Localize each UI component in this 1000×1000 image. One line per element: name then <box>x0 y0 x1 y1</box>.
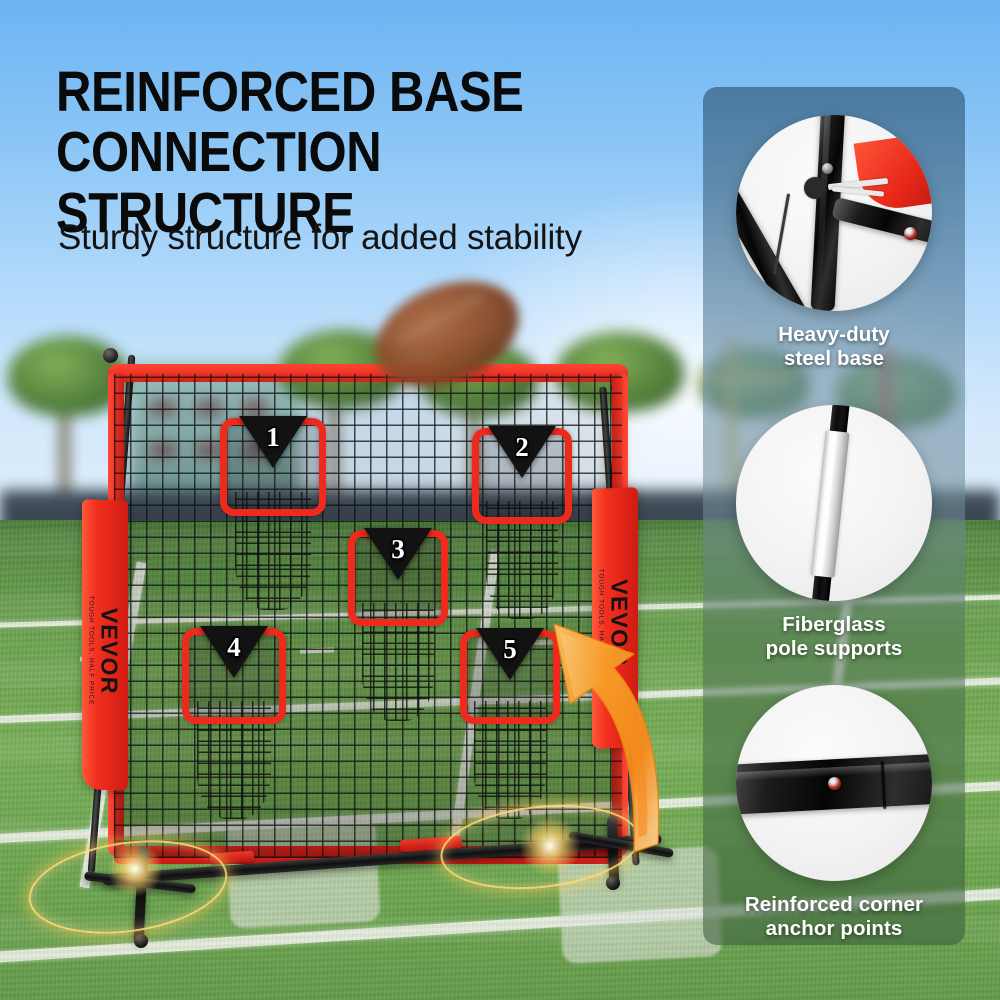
target-number: 2 <box>515 432 529 463</box>
feature-item-steel-base: Heavy-duty steel base <box>703 115 965 371</box>
football-seam <box>397 294 484 343</box>
feature-label-steel-base: Heavy-duty steel base <box>703 323 965 371</box>
base-foot-right <box>606 876 620 890</box>
vevor-sleeve-left: VEVOR TOUGH TOOLS, HALF PRICE <box>82 499 128 791</box>
target-number: 4 <box>227 632 241 663</box>
feature-label-anchor: Reinforced corner anchor points <box>703 893 965 941</box>
pole-tip-left <box>103 348 118 363</box>
subtitle: Sturdy structure for added stability <box>58 218 582 258</box>
fiberglass-pole-photo <box>736 405 932 601</box>
feature-item-fiberglass-pole: Fiberglass pole supports <box>703 405 965 661</box>
highlight-arrow <box>530 612 690 862</box>
arrow-icon <box>530 612 690 862</box>
tension-wire <box>773 193 790 274</box>
red-net-fabric <box>854 131 932 213</box>
feature-label-line2: pole supports <box>703 637 965 661</box>
base-sparkle <box>108 842 162 896</box>
target-number: 5 <box>503 634 517 665</box>
target-number: 3 <box>391 534 405 565</box>
headline-block: REINFORCED BASE CONNECTION STRUCTURE <box>56 62 696 243</box>
target-pocket-2[interactable]: 2 <box>472 428 572 524</box>
steel-base-photo <box>736 115 932 311</box>
corner-anchor-photo <box>736 685 932 881</box>
product-infographic: 1 2 3 4 5 VEVOR <box>0 0 1000 1000</box>
target-pocket-3[interactable]: 3 <box>348 530 448 626</box>
tube-rivet <box>822 163 833 174</box>
vevor-logo-left: VEVOR TOUGH TOOLS, HALF PRICE <box>88 595 123 706</box>
diagonal-steel-tube <box>736 156 808 311</box>
headline-line-1: REINFORCED BASE <box>56 62 606 122</box>
feature-label-line1: Fiberglass <box>703 613 965 637</box>
tube-rivet-red <box>904 227 917 240</box>
target-pocket-1[interactable]: 1 <box>220 418 326 516</box>
anchor-rivet <box>828 777 841 790</box>
feature-label-line1: Reinforced corner <box>703 893 965 917</box>
vevor-brand-text: VEVOR <box>96 596 123 707</box>
feature-label-line2: anchor points <box>703 917 965 941</box>
feature-item-corner-anchor: Reinforced corner anchor points <box>703 685 965 941</box>
base-foot-left <box>134 934 148 948</box>
tie-knot <box>804 177 826 199</box>
feature-panel: Heavy-duty steel base Fiberglass pole su… <box>703 87 965 945</box>
target-pocket-4[interactable]: 4 <box>182 628 286 724</box>
target-number: 1 <box>266 422 280 453</box>
feature-label-line2: steel base <box>703 347 965 371</box>
feature-label-fiberglass: Fiberglass pole supports <box>703 613 965 661</box>
feature-label-line1: Heavy-duty <box>703 323 965 347</box>
vevor-tagline-text: TOUGH TOOLS, HALF PRICE <box>88 595 95 705</box>
